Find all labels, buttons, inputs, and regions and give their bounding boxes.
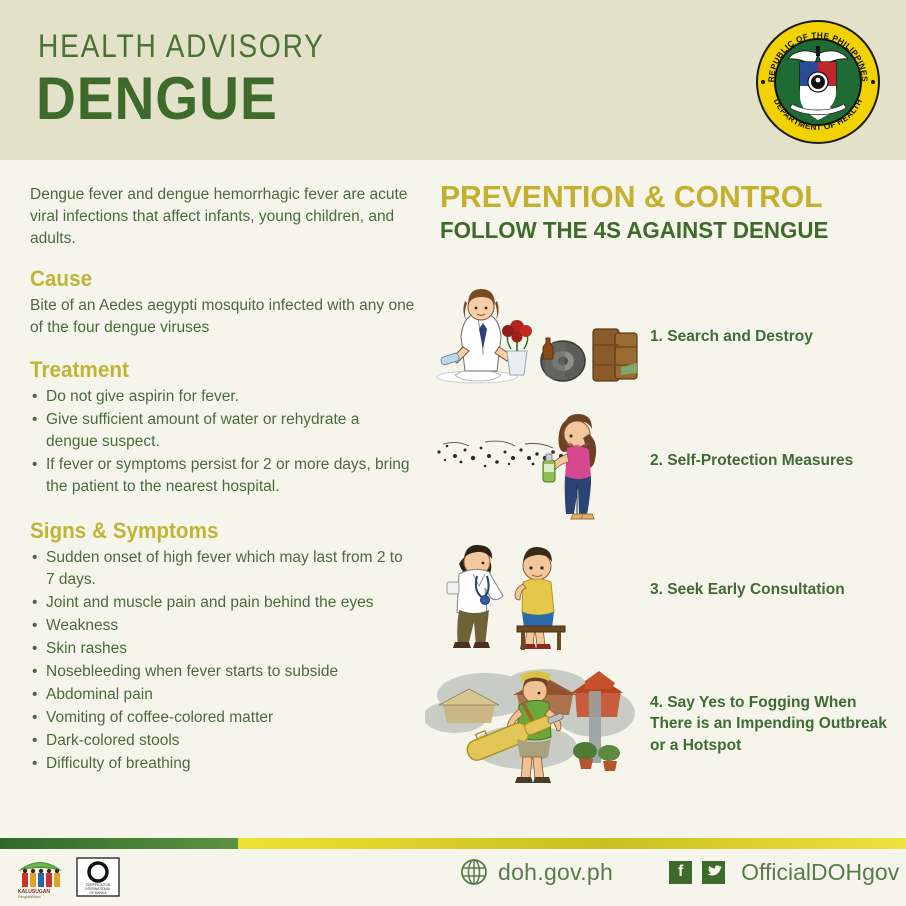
facebook-icon[interactable]: f	[669, 861, 692, 884]
page-title: DENGUE	[36, 64, 278, 133]
list-item: Skin rashes	[30, 638, 415, 660]
symptoms-list: Sudden onset of high fever which may las…	[30, 547, 415, 775]
list-item: Nosebleeding when fever starts to subsid…	[30, 661, 415, 683]
accent-bar-green	[0, 838, 238, 849]
accent-color-bar	[0, 838, 906, 849]
list-item: Dark-colored stools	[30, 730, 415, 752]
poster-footer: KALUSUGAN Pangkalahatan CERTIFICATION IN…	[0, 849, 906, 906]
kalusugan-pangkalahatan-logo: KALUSUGAN Pangkalahatan	[14, 855, 66, 899]
treatment-heading: Treatment	[30, 357, 392, 383]
step-label-2: 2. Self-Protection Measures	[640, 450, 853, 471]
prevention-subtitle: FOLLOW THE 4S AGAINST DENGUE	[440, 217, 877, 244]
treatment-list: Do not give aspirin for fever. Give suff…	[30, 386, 415, 498]
certification-logo: CERTIFICATION INTERNATIONAL OF MANILA	[76, 857, 120, 897]
accent-bar-yellow	[238, 838, 906, 849]
left-content-column: Dengue fever and dengue hemorrhagic feve…	[30, 184, 415, 776]
list-item: Difficulty of breathing	[30, 753, 415, 775]
intro-paragraph: Dengue fever and dengue hemorrhagic feve…	[30, 184, 415, 250]
doh-seal-icon: REPUBLIC OF THE PHILIPPINES DEPARTMENT O…	[754, 18, 882, 146]
list-item: Give sufficient amount of water or rehyd…	[30, 409, 415, 453]
svg-text:OF MANILA: OF MANILA	[89, 891, 107, 895]
search-and-destroy-illustration	[425, 285, 640, 390]
symptoms-heading: Signs & Symptoms	[30, 518, 392, 544]
twitter-icon[interactable]	[702, 861, 725, 884]
step-label-4: 4. Say Yes to Fogging When There is an I…	[640, 692, 895, 755]
svg-text:Pangkalahatan: Pangkalahatan	[18, 895, 41, 899]
list-item: Vomiting of coffee-colored matter	[30, 707, 415, 729]
list-item: Abdominal pain	[30, 684, 415, 706]
step-item-2: 2. Self-Protection Measures	[425, 396, 895, 526]
step-item-4: 4. Say Yes to Fogging When There is an I…	[425, 654, 895, 794]
twitter-bird-glyph	[706, 865, 722, 879]
footer-contact: doh.gov.ph f OfficialDOHgov	[460, 858, 899, 886]
header-kicker: HEALTH ADVISORY	[38, 28, 325, 65]
step-label-3: 3. Seek Early Consultation	[640, 579, 845, 600]
step-label-1: 1. Search and Destroy	[640, 326, 813, 347]
list-item: Joint and muscle pain and pain behind th…	[30, 592, 415, 614]
cause-body: Bite of an Aedes aegypti mosquito infect…	[30, 295, 415, 338]
list-item: Weakness	[30, 615, 415, 637]
social-handle-text[interactable]: OfficialDOHgov	[741, 859, 899, 886]
dengue-health-advisory-poster: HEALTH ADVISORY DENGUE REPUBLIC OF THE P…	[0, 0, 906, 906]
cause-heading: Cause	[30, 266, 392, 292]
list-item: If fever or symptoms persist for 2 or mo…	[30, 454, 415, 498]
footer-logos: KALUSUGAN Pangkalahatan CERTIFICATION IN…	[14, 855, 120, 899]
step-item-1: 1. Search and Destroy	[425, 278, 895, 396]
list-item: Do not give aspirin for fever.	[30, 386, 415, 408]
fogging-illustration	[425, 655, 640, 793]
self-protection-illustration	[425, 400, 640, 522]
poster-header: HEALTH ADVISORY DENGUE REPUBLIC OF THE P…	[0, 0, 906, 160]
seek-consultation-illustration	[425, 530, 640, 650]
website-text[interactable]: doh.gov.ph	[498, 859, 613, 886]
step-item-3: 3. Seek Early Consultation	[425, 526, 895, 654]
list-item: Sudden onset of high fever which may las…	[30, 547, 415, 591]
globe-icon	[460, 858, 488, 886]
prevention-control-header: PREVENTION & CONTROL FOLLOW THE 4S AGAIN…	[440, 180, 890, 244]
prevention-title: PREVENTION & CONTROL	[440, 180, 877, 214]
four-s-steps-list: 1. Search and Destroy	[425, 278, 895, 794]
